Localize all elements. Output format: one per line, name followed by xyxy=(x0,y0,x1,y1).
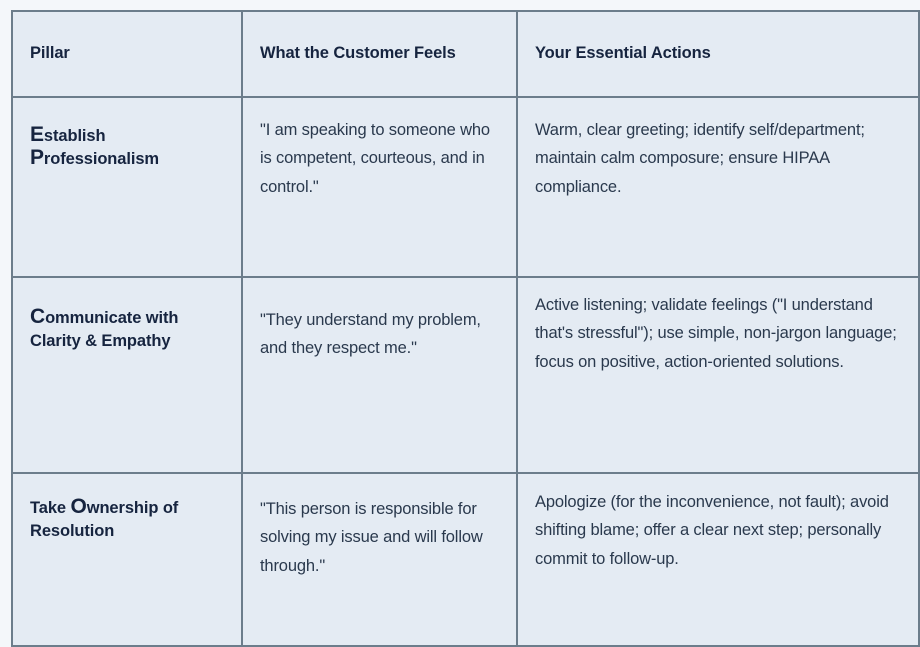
essential-actions-text: Apologize (for the inconvenience, not fa… xyxy=(535,488,900,573)
customer-feels-cell: "I am speaking to someone who is compete… xyxy=(242,97,517,277)
pillar-name: Establish Professionalism xyxy=(30,125,223,172)
table-row: Take Ownership of Resolution "This perso… xyxy=(12,473,919,646)
pillar-initial-letter: C xyxy=(30,305,45,328)
customer-feels-text: "I am speaking to someone who is compete… xyxy=(260,116,498,201)
essential-actions-cell: Active listening; validate feelings ("I … xyxy=(517,277,919,473)
customer-feels-text: "This person is responsible for solving … xyxy=(260,495,498,580)
table-row: Communicate with Clarity & Empathy "They… xyxy=(12,277,919,473)
essential-actions-text: Active listening; validate feelings ("I … xyxy=(535,291,900,376)
customer-feels-text: "They understand my problem, and they re… xyxy=(260,306,498,363)
column-header-essential-actions-label: Your Essential Actions xyxy=(535,44,711,62)
pillar-initial-letter: E xyxy=(30,123,44,146)
table-header: Pillar What the Customer Feels Your Esse… xyxy=(12,11,919,97)
pillar-initial-letter-2: P xyxy=(30,146,44,169)
customer-feels-cell: "This person is responsible for solving … xyxy=(242,473,517,646)
column-header-customer-feels: What the Customer Feels xyxy=(242,11,517,97)
essential-actions-cell: Warm, clear greeting; identify self/depa… xyxy=(517,97,919,277)
table-header-row: Pillar What the Customer Feels Your Esse… xyxy=(12,11,919,97)
pillar-table-container: Pillar What the Customer Feels Your Esse… xyxy=(11,10,918,506)
pillar-cell-communicate-clarity-empathy: Communicate with Clarity & Empathy xyxy=(12,277,242,473)
pillar-word-rest-2: rofessionalism xyxy=(44,150,159,168)
column-header-pillar-label: Pillar xyxy=(30,44,70,62)
essential-actions-cell: Apologize (for the inconvenience, not fa… xyxy=(517,473,919,646)
pillar-initial-letter: O xyxy=(70,495,86,518)
table-row: Establish Professionalism "I am speaking… xyxy=(12,97,919,277)
pillar-word-rest: stablish xyxy=(44,127,106,145)
pillar-name: Take Ownership of Resolution xyxy=(30,497,223,544)
pillar-name: Communicate with Clarity & Empathy xyxy=(30,307,223,354)
pillar-word-prefix: Take xyxy=(30,499,70,517)
table-body: Establish Professionalism "I am speaking… xyxy=(12,97,919,646)
pillar-cell-establish-professionalism: Establish Professionalism xyxy=(12,97,242,277)
pillar-word-rest: ommunicate with xyxy=(45,309,178,327)
pillar-word-rest-2: Clarity & Empathy xyxy=(30,332,170,350)
column-header-customer-feels-label: What the Customer Feels xyxy=(260,44,456,62)
column-header-essential-actions: Your Essential Actions xyxy=(517,11,919,97)
customer-feels-cell: "They understand my problem, and they re… xyxy=(242,277,517,473)
customer-service-pillars-table: Pillar What the Customer Feels Your Esse… xyxy=(11,10,920,647)
pillar-cell-take-ownership-of-resolution: Take Ownership of Resolution xyxy=(12,473,242,646)
essential-actions-text: Warm, clear greeting; identify self/depa… xyxy=(535,116,900,201)
column-header-pillar: Pillar xyxy=(12,11,242,97)
